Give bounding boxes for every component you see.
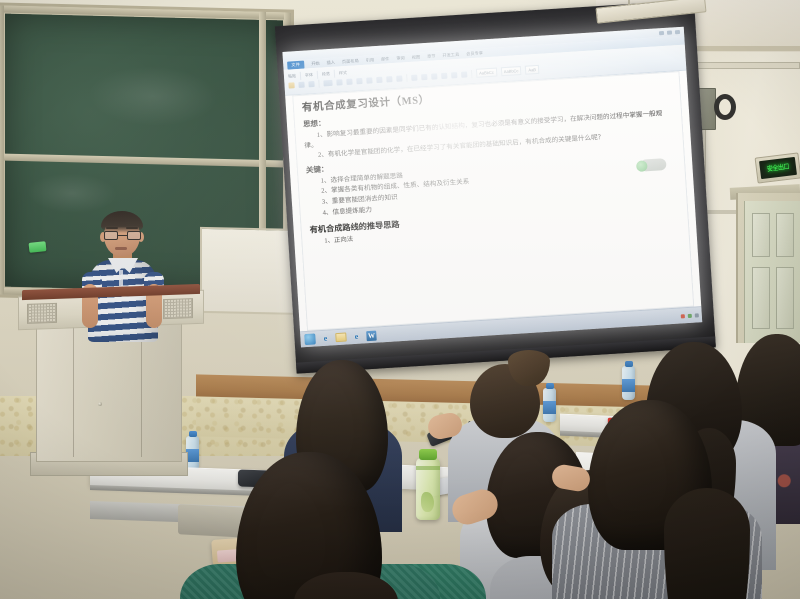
tab-review[interactable]: 审阅 [396, 55, 405, 62]
projection-screen: 文件 开始 插入 页面布局 引用 邮件 审阅 视图 章节 开发工具 会员专享 粘… [275, 0, 716, 374]
numbered-list-icon[interactable] [421, 73, 427, 79]
tab-insert[interactable]: 插入 [326, 59, 335, 66]
chalk-smudge [88, 65, 218, 128]
eyeglasses-icon [104, 231, 141, 240]
internet-explorer-icon[interactable]: e [320, 333, 331, 344]
document-canvas[interactable]: 有机合成复习设计（MS） 思想： 1、影响复习最重要的因素是同学们已有的认知结构… [285, 71, 701, 332]
person-ponytail [664, 488, 750, 599]
presenter-eyebrow [126, 227, 138, 229]
underline-icon[interactable] [366, 77, 372, 83]
group-label-styles: 样式 [339, 70, 347, 76]
tab-developer[interactable]: 开发工具 [442, 51, 459, 58]
chalk-eraser[interactable] [29, 241, 47, 253]
bottle-cap [419, 449, 437, 460]
ribbon-separator [317, 71, 319, 79]
style-preset-heading1[interactable]: AaB [525, 65, 539, 75]
podium-speaker-grille [27, 303, 57, 324]
chalk-smudge [27, 172, 117, 214]
system-tray [680, 307, 699, 323]
tab-member[interactable]: 会员专享 [466, 50, 483, 57]
word-processor-window: 文件 开始 插入 页面布局 引用 邮件 审阅 视图 章节 开发工具 会员专享 粘… [282, 27, 702, 348]
bottle-ring [416, 466, 440, 470]
ribbon-separator [334, 70, 336, 78]
tab-references[interactable]: 引用 [365, 57, 374, 64]
format-painter-icon[interactable] [308, 81, 314, 87]
text-color-icon[interactable] [386, 76, 392, 82]
tab-section[interactable]: 章节 [427, 53, 436, 60]
font-size-select[interactable] [336, 79, 342, 85]
podium-seam [141, 327, 142, 457]
word-icon[interactable]: W [366, 330, 377, 341]
align-right-icon[interactable] [451, 72, 457, 78]
water-bottle[interactable] [622, 366, 635, 400]
highlight-icon[interactable] [396, 75, 402, 81]
align-center-icon[interactable] [441, 72, 447, 78]
font-family-select[interactable] [323, 79, 332, 86]
watermark-logo [636, 156, 667, 173]
style-preset-normal[interactable]: AaBbCc [476, 68, 497, 78]
volume-icon[interactable] [695, 313, 699, 317]
network-icon[interactable] [688, 313, 692, 317]
door-panel [752, 267, 770, 329]
green-infuser-bottle[interactable] [416, 458, 440, 520]
strikethrough-icon[interactable] [376, 76, 382, 82]
group-label-paste: 粘贴 [288, 73, 296, 79]
glasses-lens [127, 231, 141, 240]
board-rail-left [0, 5, 4, 294]
cut-icon[interactable] [298, 81, 304, 87]
paste-icon[interactable] [288, 82, 294, 88]
style-preset-nospacing[interactable]: AaBbCc [501, 66, 522, 76]
bold-icon[interactable] [346, 78, 352, 84]
door-panel [776, 213, 794, 257]
projected-image: 文件 开始 插入 页面布局 引用 邮件 审阅 视图 章节 开发工具 会员专享 粘… [282, 27, 702, 348]
exit-sign-panel: 安全出口 [759, 157, 797, 179]
glasses-bridge [118, 235, 127, 236]
line-spacing-icon[interactable] [461, 71, 467, 77]
minimize-icon[interactable] [659, 30, 664, 34]
presenter-eyebrow [106, 227, 118, 229]
glasses-lens [104, 231, 118, 240]
tab-layout[interactable]: 页面布局 [342, 58, 359, 65]
bottle-contents [421, 492, 434, 512]
classroom-door[interactable] [744, 201, 800, 343]
podium-seam [73, 327, 74, 457]
podium-lock[interactable] [98, 402, 102, 406]
folder-icon[interactable] [335, 332, 347, 342]
align-left-icon[interactable] [431, 73, 437, 79]
classroom-scene: 安全出口 [0, 0, 800, 599]
exit-sign-text: 安全出口 [766, 162, 789, 175]
notification-icon[interactable] [681, 314, 685, 318]
internet-explorer-icon[interactable]: e [351, 331, 362, 342]
close-icon[interactable] [675, 29, 680, 33]
emergency-exit-sign: 安全出口 [755, 152, 800, 183]
podium-body [36, 322, 182, 462]
bullet-list-icon[interactable] [411, 74, 417, 80]
presenter-mouth [115, 247, 127, 250]
ribbon-separator [300, 72, 302, 80]
door-panel [776, 267, 794, 329]
ribbon-separator [406, 74, 408, 82]
ribbon-separator [318, 79, 320, 87]
maximize-icon[interactable] [667, 30, 672, 34]
podium-speaker-grille [163, 298, 193, 319]
tab-mailings[interactable]: 邮件 [381, 56, 390, 63]
tab-view[interactable]: 视图 [412, 54, 421, 61]
water-bottle[interactable] [543, 388, 556, 422]
door-panel [752, 213, 770, 257]
ribbon-separator [471, 70, 473, 78]
group-label-font: 字体 [305, 72, 313, 78]
windows-start-icon[interactable] [304, 333, 316, 345]
italic-icon[interactable] [356, 77, 362, 83]
coiled-cable [714, 94, 736, 120]
tab-home[interactable]: 开始 [311, 60, 320, 67]
group-label-paragraph: 段落 [322, 71, 330, 77]
